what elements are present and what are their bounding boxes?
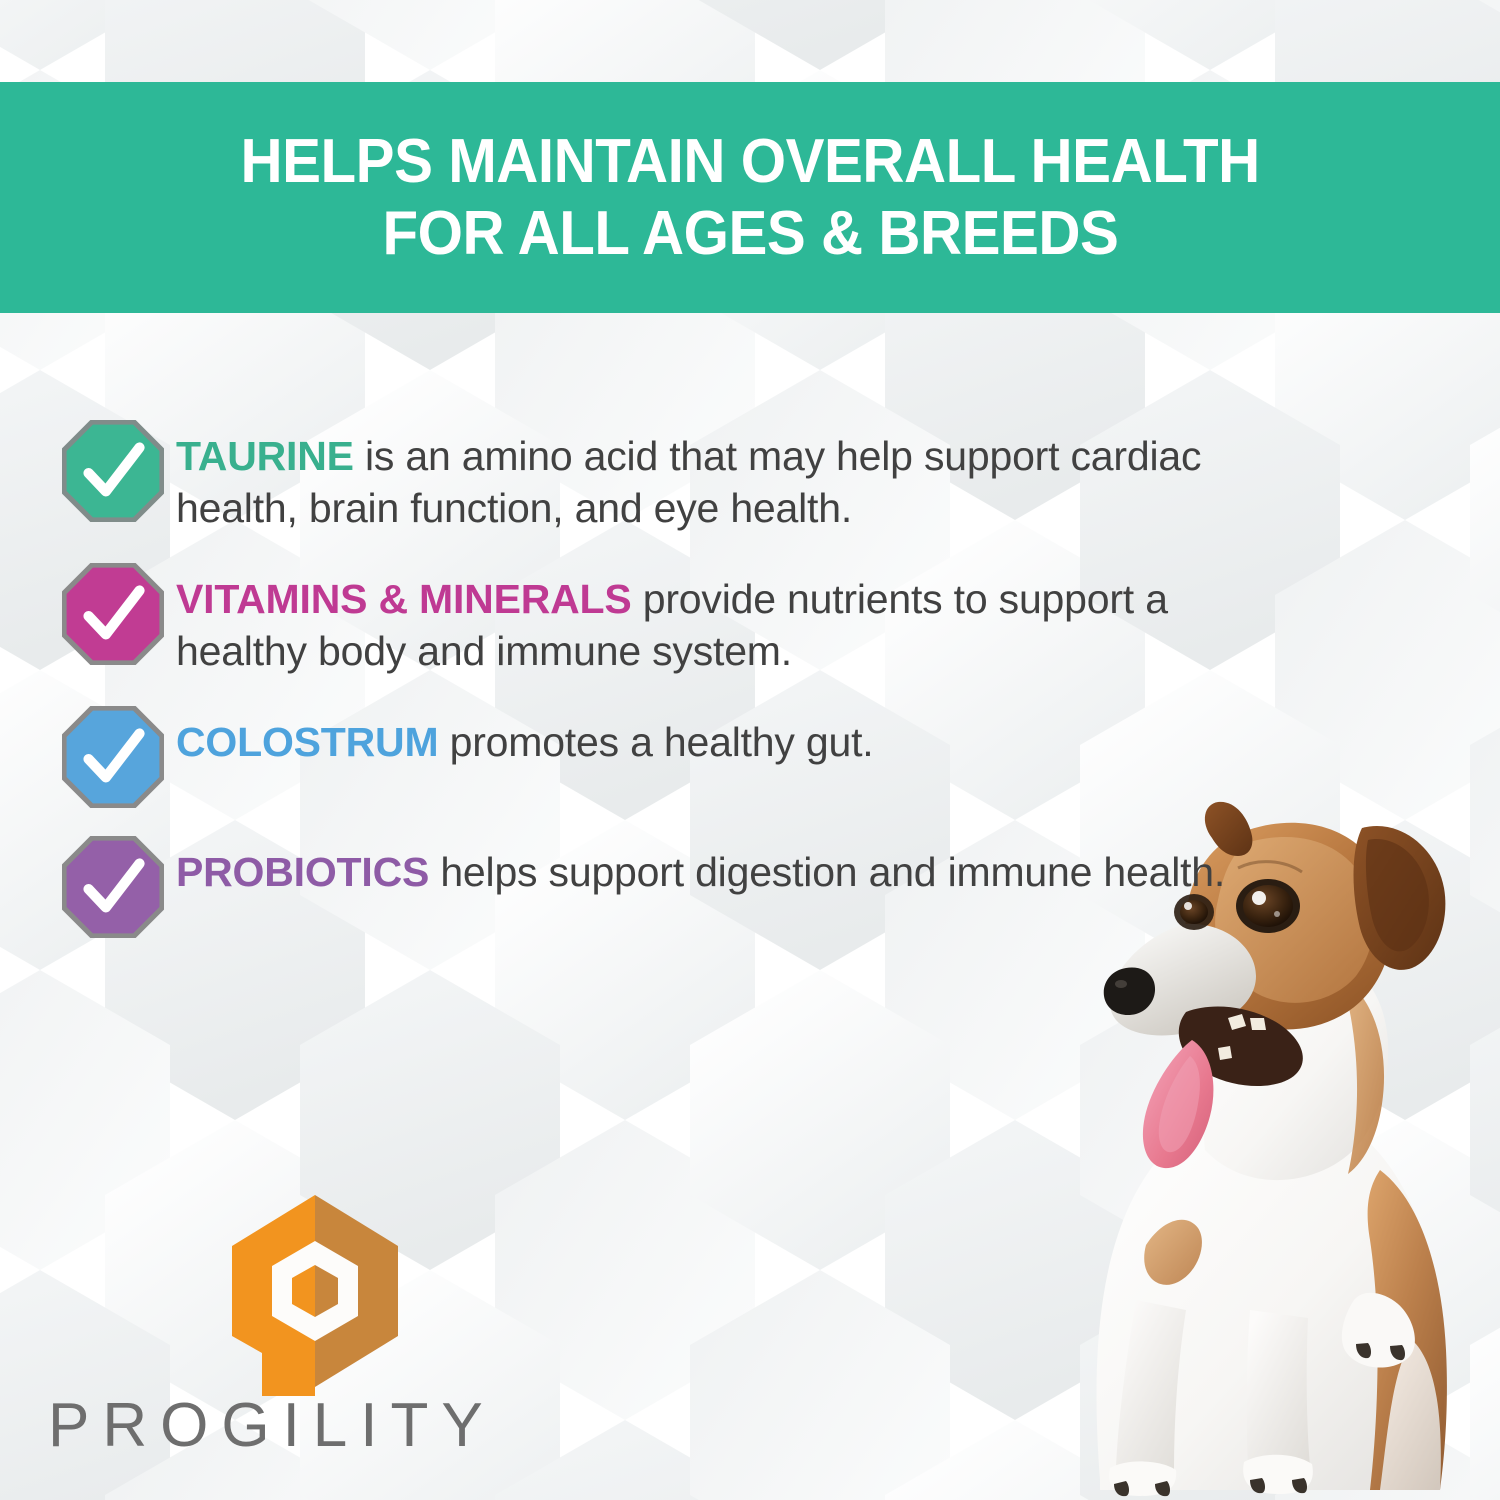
benefit-item-probiotics: PROBIOTICS helps support digestion and i… xyxy=(62,834,1272,938)
check-icon xyxy=(62,420,164,522)
header-banner: HELPS MAINTAIN OVERALL HEALTH FOR ALL AG… xyxy=(0,82,1500,313)
benefit-item-colostrum: COLOSTRUM promotes a healthy gut. xyxy=(62,704,1272,808)
benefit-text-probiotics: PROBIOTICS helps support digestion and i… xyxy=(176,834,1225,898)
benefit-term-taurine: TAURINE xyxy=(176,433,354,479)
check-icon xyxy=(62,563,164,665)
check-icon xyxy=(62,836,164,938)
brand-logo: PROGILITY xyxy=(48,1193,548,1462)
benefit-description-probiotics: helps support digestion and immune healt… xyxy=(429,849,1225,895)
header-headline-line-1: HELPS MAINTAIN OVERALL HEALTH xyxy=(240,129,1259,195)
benefit-term-colostrum: COLOSTRUM xyxy=(176,719,438,765)
brand-wordmark: PROGILITY xyxy=(48,1392,548,1462)
benefit-text-colostrum: COLOSTRUM promotes a healthy gut. xyxy=(176,704,873,768)
benefit-term-vitamins-minerals: VITAMINS & MINERALS xyxy=(176,576,632,622)
progility-hexagon-p-logo-icon xyxy=(230,1193,400,1398)
header-headline-line-2: FOR ALL AGES & BREEDS xyxy=(382,201,1118,267)
benefits-list: TAURINE is an amino acid that may help s… xyxy=(62,418,1272,964)
benefit-item-taurine: TAURINE is an amino acid that may help s… xyxy=(62,418,1272,535)
benefit-text-taurine: TAURINE is an amino acid that may help s… xyxy=(176,418,1272,535)
check-icon xyxy=(62,706,164,808)
benefit-term-probiotics: PROBIOTICS xyxy=(176,849,429,895)
benefit-item-vitamins-minerals: VITAMINS & MINERALS provide nutrients to… xyxy=(62,561,1272,678)
benefit-description-colostrum: promotes a healthy gut. xyxy=(438,719,873,765)
infographic-page: HELPS MAINTAIN OVERALL HEALTH FOR ALL AG… xyxy=(0,0,1500,1500)
benefit-text-vitamins-minerals: VITAMINS & MINERALS provide nutrients to… xyxy=(176,561,1272,678)
brand-name-text: PROGILITY xyxy=(48,1392,496,1460)
